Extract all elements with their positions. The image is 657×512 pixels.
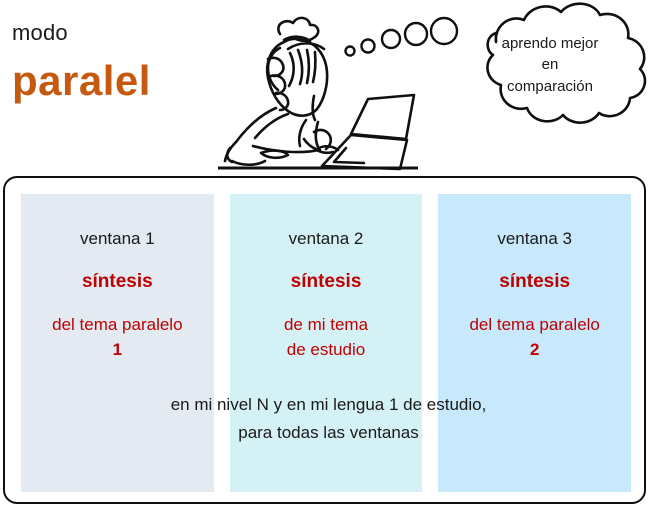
page-title: paralel (12, 57, 151, 105)
mode-word-label: modo (12, 20, 68, 46)
detail-number-3: 2 (438, 338, 631, 363)
bubble-line-3: comparación (470, 76, 630, 97)
window-column-1[interactable]: ventana 1 síntesis del tema paralelo 1 (21, 194, 214, 492)
header: modo paralel (0, 0, 657, 175)
detail-line-2-1: de mi tema (230, 313, 423, 338)
synthesis-label-2: síntesis (230, 271, 423, 293)
detail-line-1-1: del tema paralelo (21, 313, 214, 338)
window-column-2[interactable]: ventana 2 síntesis de mi tema de estudio (230, 194, 423, 492)
windows-columns: ventana 1 síntesis del tema paralelo 1 v… (21, 194, 631, 492)
bubble-line-1: aprendo mejor (470, 33, 630, 54)
detail-line-2-2: de estudio (230, 338, 423, 363)
synthesis-label-1: síntesis (21, 271, 214, 293)
window-column-3[interactable]: ventana 3 síntesis del tema paralelo 2 (438, 194, 631, 492)
detail-number-1: 1 (21, 338, 214, 363)
window-label-1: ventana 1 (21, 229, 214, 249)
window-detail-1: del tema paralelo 1 (21, 313, 214, 362)
detail-line-3-1: del tema paralelo (438, 313, 631, 338)
window-detail-3: del tema paralelo 2 (438, 313, 631, 362)
window-detail-2: de mi tema de estudio (230, 313, 423, 362)
thought-bubble-text: aprendo mejor en comparación (470, 33, 630, 97)
window-label-3: ventana 3 (438, 229, 631, 249)
windows-panel: ventana 1 síntesis del tema paralelo 1 v… (3, 176, 646, 504)
synthesis-label-3: síntesis (438, 271, 631, 293)
bubble-line-2: en (470, 54, 630, 75)
window-label-2: ventana 2 (230, 229, 423, 249)
